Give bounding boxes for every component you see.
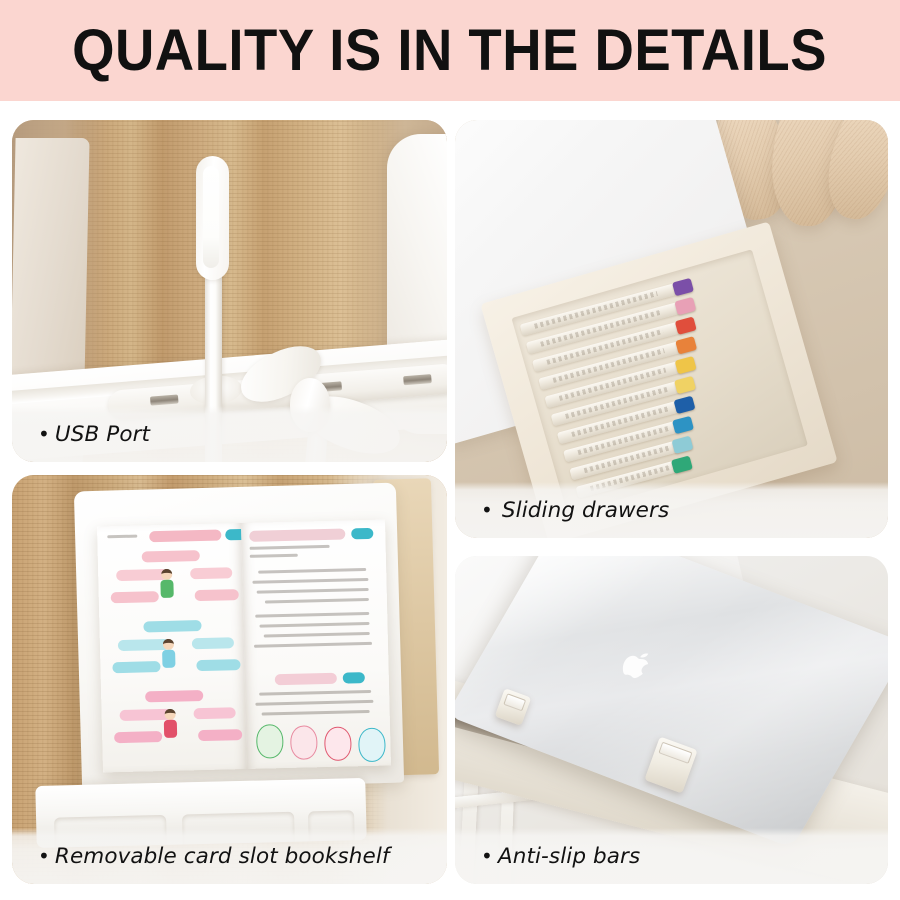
illustration-thumbnail — [358, 728, 386, 763]
page-title: QUALITY IS IN THE DETAILS — [73, 22, 828, 80]
photo-sliding-drawers — [455, 120, 888, 538]
caption-label: Sliding drawers — [502, 498, 669, 523]
bullet-icon: • — [481, 500, 493, 520]
illustration-child — [160, 709, 181, 739]
panel-usb-port[interactable]: • USB Port — [12, 120, 447, 462]
caption-usb-port: • USB Port — [12, 406, 447, 462]
open-book — [97, 520, 391, 773]
bullet-icon: • — [481, 846, 493, 866]
bullet-icon: • — [38, 424, 50, 444]
illustration-thumbnail — [290, 725, 318, 760]
book-page-left — [97, 523, 247, 772]
usb-slot — [403, 374, 432, 385]
illustration-child — [158, 639, 179, 669]
illustration-thumbnail — [256, 724, 284, 759]
photo-bookshelf — [12, 475, 447, 884]
caption-sliding-drawers: • Sliding drawers — [455, 482, 888, 538]
book-page-right — [241, 520, 391, 769]
caption-label: USB Port — [55, 422, 150, 447]
caption-anti-slip-bars: • Anti-slip bars — [455, 828, 888, 884]
panel-sliding-drawers[interactable]: • Sliding drawers — [455, 120, 888, 538]
illustration-thumbnail — [324, 726, 352, 761]
panel-anti-slip-bars[interactable]: • Anti-slip bars — [455, 556, 888, 884]
illustration-child — [156, 569, 177, 599]
panel-removable-card-slot-bookshelf[interactable]: • Removable card slot bookshelf — [12, 475, 447, 884]
drawer-well — [511, 249, 808, 514]
bullet-icon: • — [38, 846, 50, 866]
caption-label: Removable card slot bookshelf — [55, 844, 390, 869]
header-banner: QUALITY IS IN THE DETAILS — [0, 0, 900, 101]
caption-label: Anti-slip bars — [498, 844, 640, 869]
usb-lamp-light-strip — [203, 166, 219, 268]
caption-bookshelf: • Removable card slot bookshelf — [12, 828, 447, 884]
usb-slot — [150, 394, 179, 405]
